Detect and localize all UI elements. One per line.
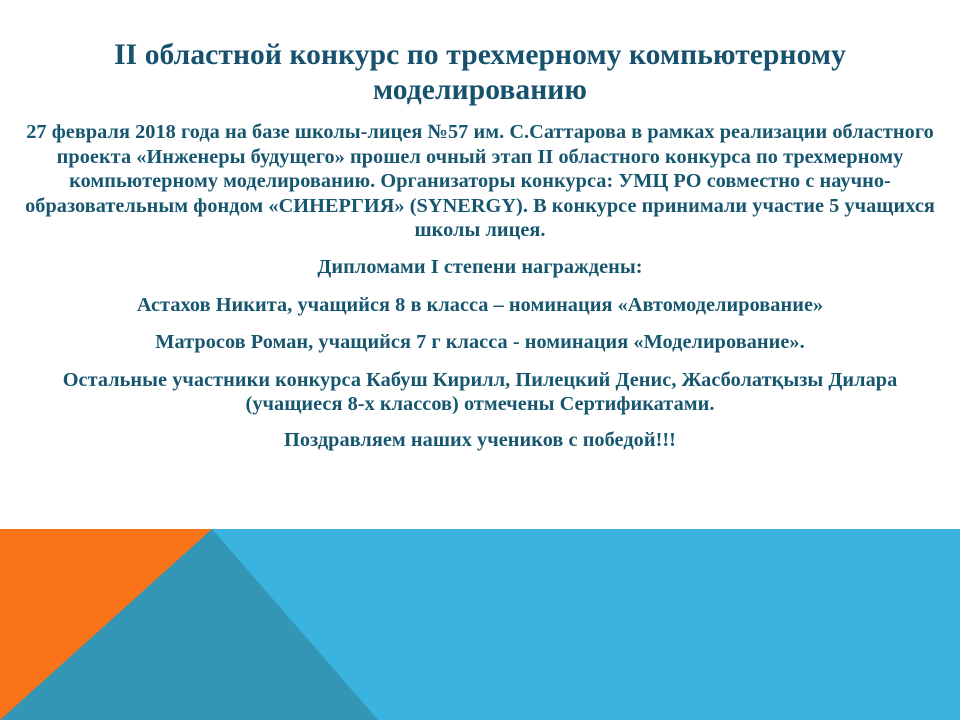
- slide-body: 27 февраля 2018 года на базе школы-лицея…: [0, 108, 960, 453]
- paragraph-other-participants: Остальные участники конкурса Кабуш Кирил…: [8, 368, 952, 417]
- paragraph-winner-1: Астахов Никита, учащийся 8 в класса – но…: [8, 293, 952, 318]
- slide-content: II областной конкурс по трехмерному комп…: [0, 0, 960, 453]
- slide-title: II областной конкурс по трехмерному комп…: [0, 0, 960, 108]
- presentation-slide: II областной конкурс по трехмерному комп…: [0, 0, 960, 720]
- paragraph-intro: 27 февраля 2018 года на базе школы-лицея…: [8, 120, 952, 243]
- bottom-decorative-band: [0, 529, 960, 720]
- decorative-shapes-graphic: [0, 529, 960, 720]
- paragraph-diplomas-heading: Дипломами I степени награждены:: [8, 255, 952, 280]
- paragraph-winner-2: Матросов Роман, учащийся 7 г класса - но…: [8, 330, 952, 355]
- paragraph-congratulations: Поздравляем наших учеников с победой!!!: [8, 428, 952, 453]
